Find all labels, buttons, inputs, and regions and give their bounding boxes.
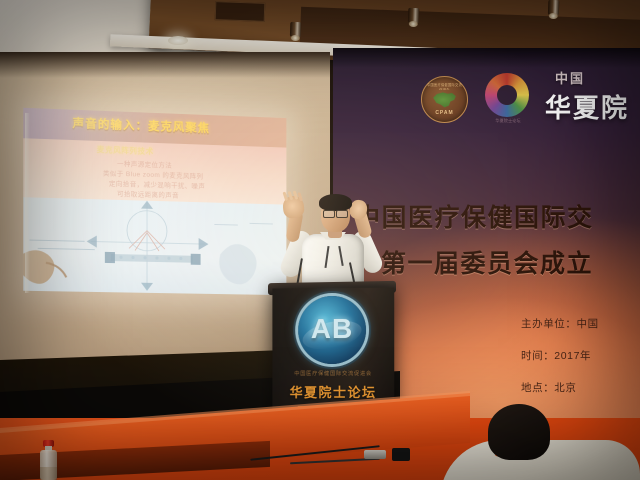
- backdrop-headline-line2: 第一届委员会成立: [381, 244, 593, 280]
- speaker-hair: [319, 194, 352, 211]
- slide-bullet: 可拾取远距离的声音: [117, 188, 179, 200]
- spotlight-icon: [548, 0, 560, 21]
- slide-diagram: [23, 197, 286, 295]
- wall-top-shadow: [0, 52, 330, 78]
- podium-org-line: 中国医疗保健国际交流促进会: [272, 370, 394, 377]
- conference-photo: 声音的输入：麦克风聚焦 麦克风阵列技术 一种声源定位方法 类似于 Blue zo…: [0, 0, 640, 480]
- backdrop-top-shadow: [333, 48, 640, 68]
- glasses-icon: [323, 210, 335, 218]
- screen-left-edge: [25, 113, 30, 293]
- ab-emblem-icon: AB: [298, 296, 366, 364]
- audience-head: [488, 404, 550, 460]
- spotlight-icon: [408, 8, 420, 29]
- ring-emblem-caption: 华夏院士论坛: [481, 118, 535, 124]
- backdrop-info-location: 地点：北京: [521, 380, 577, 395]
- slide-subtitle: 麦克风阵列技术: [97, 144, 154, 157]
- ceiling-vent: [215, 1, 266, 22]
- bottle-body: [40, 450, 57, 480]
- water-bottle: [40, 440, 57, 480]
- spotlight-icon: [290, 22, 302, 43]
- power-strip: [364, 450, 386, 459]
- backdrop-top-big-title: 华夏院: [545, 88, 629, 125]
- backdrop-info-time: 时间：2017年: [521, 348, 591, 363]
- cpam-acronym: CPAM: [422, 110, 467, 116]
- bottle-label: [40, 467, 57, 480]
- cpam-seal-logo-icon: 中国医疗保健国际交流促进会 CPAM: [421, 76, 468, 123]
- backdrop-top-small-title: 中国: [555, 68, 585, 87]
- china-map-icon: [431, 91, 458, 108]
- cpam-ring-text: 中国医疗保健国际交流促进会: [426, 82, 463, 90]
- recessed-light-icon: [168, 36, 188, 45]
- projection-screen: 声音的输入：麦克风聚焦 麦克风阵列技术 一种声源定位方法 类似于 Blue zo…: [23, 108, 286, 295]
- mic-array-diagram-icon: [23, 197, 286, 295]
- colored-ring-emblem-icon: [485, 73, 529, 117]
- backdrop-info-organizer: 主办单位：中国: [521, 316, 599, 331]
- glasses-icon: [336, 210, 348, 218]
- ab-emblem-text: AB: [298, 313, 366, 345]
- equipment-box: [392, 448, 410, 461]
- speaker-left-hand: [282, 195, 305, 219]
